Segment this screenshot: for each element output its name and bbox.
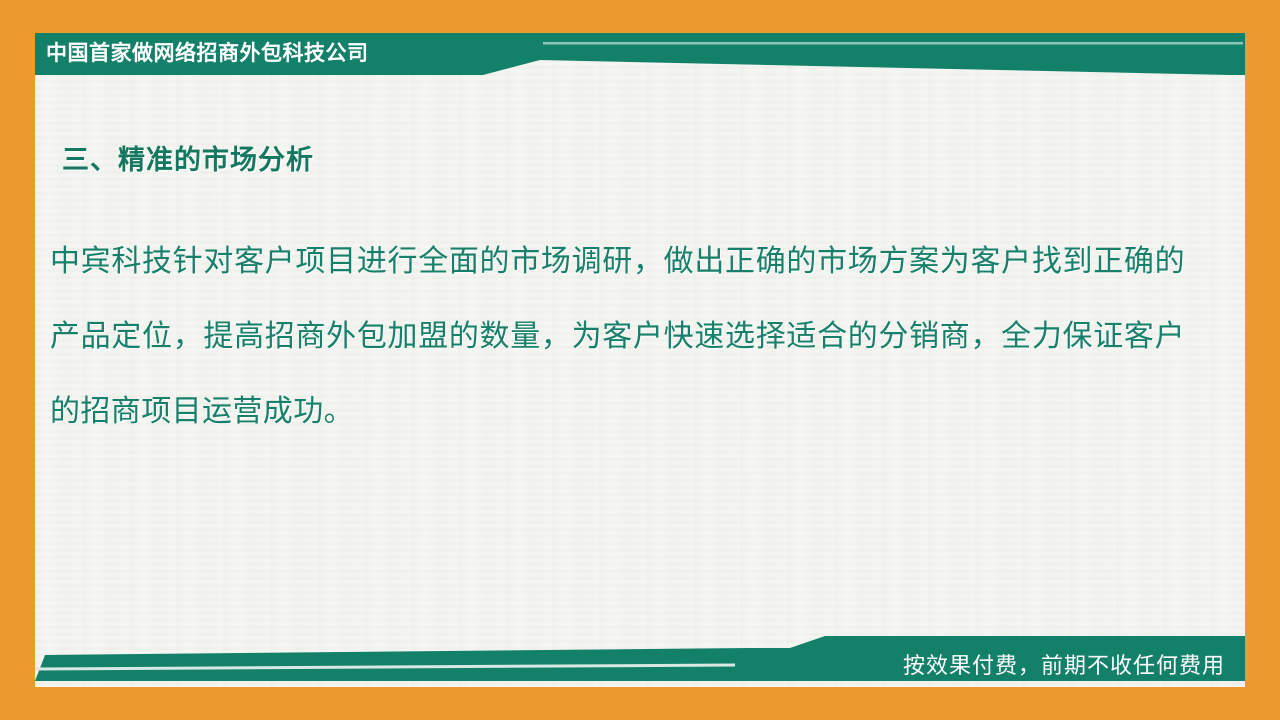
slide-canvas: 中国首家做网络招商外包科技公司 三、精准的市场分析 中宾科技针对客户项目进行全面… xyxy=(0,0,1280,720)
footer-tagline: 按效果付费，前期不收任何费用 xyxy=(903,650,1225,682)
body-paragraph: 中宾科技针对客户项目进行全面的市场调研，做出正确的市场方案为客户找到正确的产品定… xyxy=(50,224,1185,449)
header-title: 中国首家做网络招商外包科技公司 xyxy=(46,38,476,70)
section-heading: 三、精准的市场分析 xyxy=(62,138,314,177)
